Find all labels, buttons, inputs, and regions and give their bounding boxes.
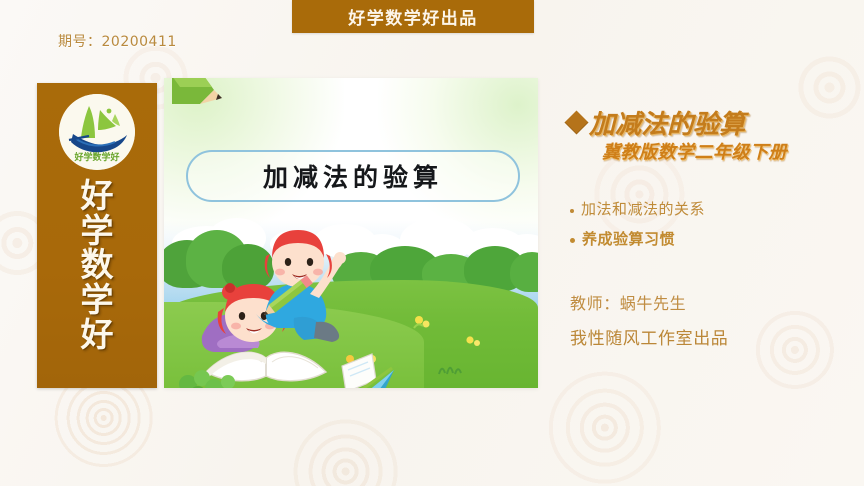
brand-char-3: 学 [81, 283, 114, 317]
diamond-bullet-icon [564, 110, 588, 134]
list-item: 养成验算习惯 [570, 228, 705, 249]
slide-cover-canvas: 好学数学好出品 期号：20200411 [0, 0, 864, 486]
clover-icon [174, 364, 244, 388]
sailboat-logo-icon: 好学数学好 [59, 94, 135, 170]
flower-icon [464, 334, 486, 350]
bullet-dot-icon [570, 238, 575, 243]
list-item-label: 加法和减法的关系 [581, 198, 705, 219]
brand-logo-text: 好学数学好 [73, 151, 119, 163]
right-text-column: 加减法的验算 冀教版数学二年级下册 加法和减法的关系 养成验算习惯 教师：蜗牛先… [560, 0, 864, 486]
brand-banner: 好学数学好 好 学 数 学 好 [37, 83, 157, 388]
brand-char-2: 数 [81, 248, 114, 282]
brand-char-4: 好 [81, 318, 114, 352]
list-item: 加法和减法的关系 [570, 198, 705, 219]
brand-char-1: 学 [81, 214, 114, 248]
slide-title-pill: 加减法的验算 [186, 150, 520, 202]
objective-list: 加法和减法的关系 养成验算习惯 [570, 198, 705, 258]
top-banner-label: 好学数学好出品 [348, 4, 478, 29]
notebook-and-paper-plane-icon [336, 346, 406, 388]
top-banner: 好学数学好出品 [292, 0, 534, 33]
flower-icon [412, 314, 438, 332]
bullet-dot-icon [570, 209, 574, 213]
main-subtitle: 冀教版数学二年级下册 [602, 138, 787, 164]
grass-icon [436, 360, 470, 376]
brand-vertical-text: 好 学 数 学 好 [37, 179, 157, 351]
slide-title: 加减法的验算 [263, 158, 443, 194]
studio-line: 我性随风工作室出品 [570, 324, 728, 349]
issue-number: 期号：20200411 [58, 31, 177, 51]
brand-logo: 好学数学好 [59, 94, 135, 170]
credits-block: 教师：蜗牛先生 我性随风工作室出品 [570, 290, 728, 359]
teacher-line: 教师：蜗牛先生 [570, 290, 728, 314]
slide-preview-card: 加减法的验算 [164, 78, 538, 388]
list-item-label: 养成验算习惯 [582, 228, 675, 249]
main-title: 加减法的验算 [589, 104, 745, 141]
main-title-row: 加减法的验算 [568, 104, 745, 141]
pencil-tip-icon [170, 78, 222, 116]
brand-char-0: 好 [81, 179, 114, 213]
